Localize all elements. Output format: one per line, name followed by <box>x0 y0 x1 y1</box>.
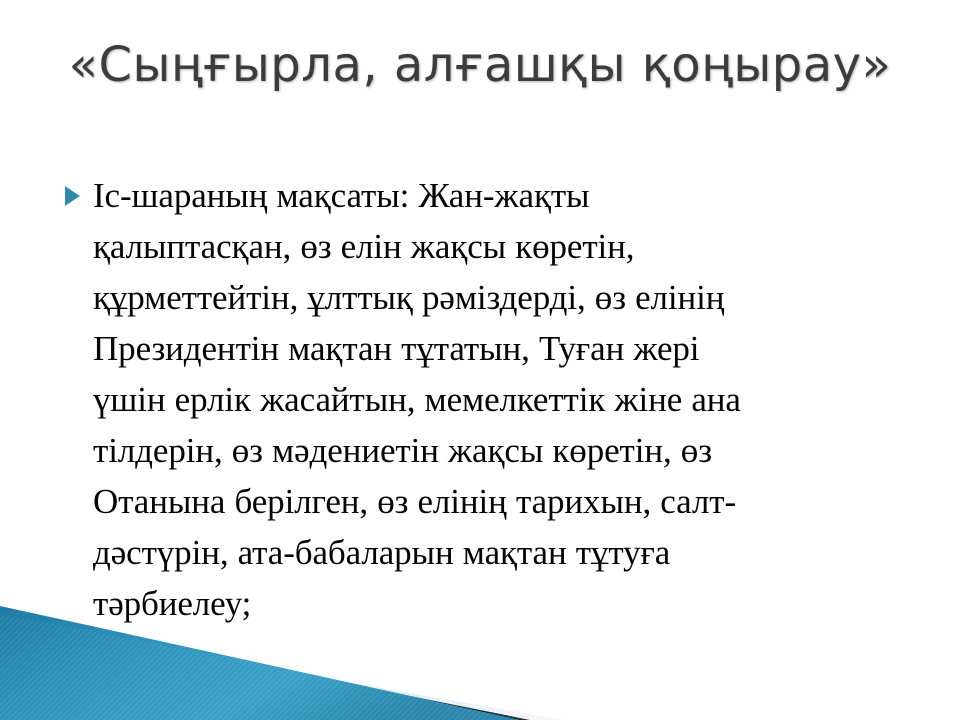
bullet-line: тәрбиелеу; <box>93 578 902 629</box>
bullet-line: тілдерін, өз мәдениетін жақсы көретін, ө… <box>93 425 902 476</box>
bullet-line: Отанына берілген, өз елінің тарихын, сал… <box>93 476 902 527</box>
decor-pale-band <box>0 622 565 720</box>
bullet-line: қалыптасқан, өз елін жақсы көретін, <box>93 221 902 272</box>
decor-black-band <box>0 614 530 720</box>
slide-canvas: «Сыңғырла, алғашқы қоңырау» Іс-шараның м… <box>0 0 960 720</box>
body-placeholder: Іс-шараның мақсаты: Жан-жақты қалыптасқа… <box>62 170 902 629</box>
bullet-line: Іс-шараның мақсаты: Жан-жақты <box>93 170 902 221</box>
bullet-line: дәстүрін, ата-бабаларын мақтан тұтуға <box>93 527 902 578</box>
bullet-line: Президентін мақтан тұтатын, Туған жері <box>93 323 902 374</box>
list-item: Іс-шараның мақсаты: Жан-жақты қалыптасқа… <box>62 170 902 629</box>
page-title: «Сыңғырла, алғашқы қоңырау» <box>40 38 920 93</box>
triangle-bullet-icon <box>62 184 80 206</box>
bullet-line: үшін ерлік жасайтын, мемелкеттік жіне ан… <box>93 374 902 425</box>
bullet-paragraph: Іс-шараның мақсаты: Жан-жақты қалыптасқа… <box>93 170 902 629</box>
bullet-line: құрметтейтін, ұлттық рәміздерді, өз елін… <box>93 272 902 323</box>
